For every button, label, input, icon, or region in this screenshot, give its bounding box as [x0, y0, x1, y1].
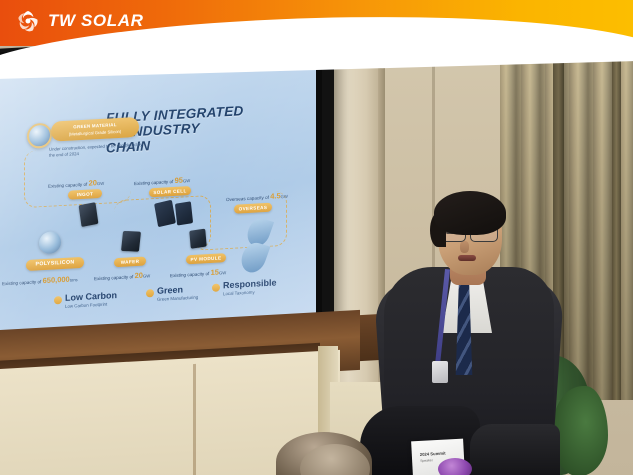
wafer-caption: Existing capacity of 20GW	[94, 270, 150, 282]
ingot-icon	[79, 202, 99, 227]
presentation-display: FULLY INTEGRATED PV INDUSTRY CHAIN GREEN…	[0, 39, 316, 336]
feature-subtitle: Local Taxonomy	[223, 290, 255, 297]
pv-module-caption: Existing capacity of 15GW	[170, 267, 226, 279]
mouth	[458, 255, 476, 261]
polysilicon-icon	[39, 231, 61, 254]
brand-logo: TW SOLAR	[16, 9, 143, 33]
solar-cell-caption: Existing capacity of 95GW	[134, 175, 190, 187]
polysilicon-caption: Existing capacity of 650,000tons	[2, 274, 78, 287]
potted-plant-leaves	[552, 386, 608, 475]
nose	[460, 241, 469, 253]
sun-swirl-logo-icon	[16, 9, 40, 33]
feature-title: Responsible	[223, 277, 277, 290]
screenshot-root: FULLY INTEGRATED PV INDUSTRY CHAIN GREEN…	[0, 0, 633, 475]
flower-bouquet	[438, 458, 472, 475]
stage-pill-polysilicon: POLYSILICON	[26, 257, 84, 271]
name-badge	[432, 361, 448, 383]
brand-name: TW SOLAR	[48, 11, 143, 31]
feature-subtitle: Green Manufacturing	[157, 295, 198, 302]
wafer-icon	[121, 231, 141, 252]
stage-pill-ingot: INGOT	[68, 189, 102, 200]
stage-pill-wafer: WAFER	[114, 256, 146, 267]
feature-title: Green	[157, 284, 183, 295]
solar-cell-icon-2	[175, 201, 193, 225]
foreground-person-shoulder-2	[470, 424, 560, 475]
check-circle-icon	[146, 289, 154, 297]
slide-content: FULLY INTEGRATED PV INDUSTRY CHAIN GREEN…	[0, 39, 316, 336]
solar-cell-icon	[154, 200, 176, 227]
feature-subtitle: Low Carbon Footprint	[65, 302, 107, 309]
green-material-icon	[27, 123, 52, 149]
hair	[434, 191, 506, 235]
check-circle-icon	[212, 283, 220, 291]
brand-banner: TW SOLAR	[0, 0, 633, 46]
card-line-2: Speaker	[420, 458, 433, 463]
lower-wall-panel-seam	[193, 364, 196, 475]
feature-title: Low Carbon	[65, 290, 117, 303]
stage-pill-pv-module: PV MODULE	[186, 253, 226, 264]
check-circle-icon	[54, 296, 62, 304]
pv-module-icon	[189, 229, 207, 249]
card-line-1: 2024 Summit	[420, 451, 446, 457]
